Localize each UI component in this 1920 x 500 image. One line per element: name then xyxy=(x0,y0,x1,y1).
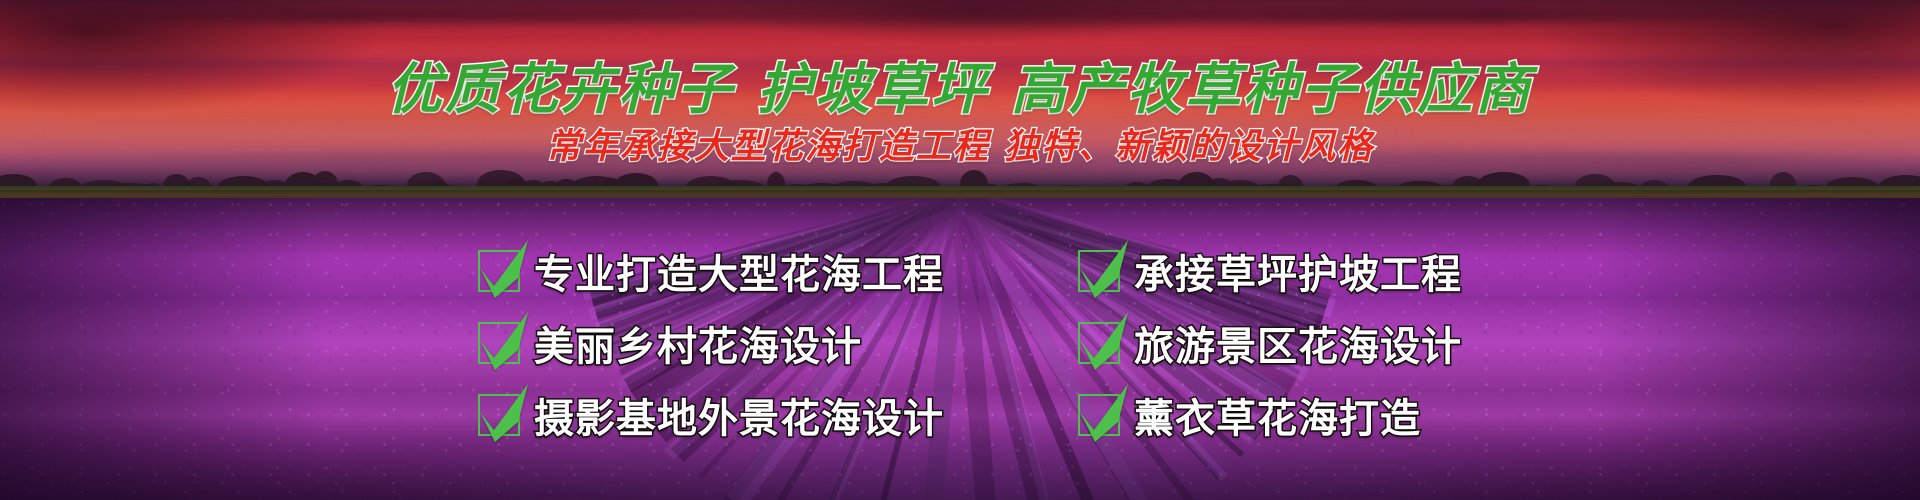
check-icon xyxy=(478,248,524,294)
feature-label: 摄影基地外景花海设计 xyxy=(534,386,944,444)
check-icon xyxy=(1078,320,1124,366)
feature-item: 旅游景区花海设计 xyxy=(1078,312,1598,374)
feature-list: 专业打造大型花海工程承接草坪护坡工程美丽乡村花海设计旅游景区花海设计摄影基地外景… xyxy=(478,240,1598,446)
check-icon xyxy=(478,320,524,366)
feature-label: 薰衣草花海打造 xyxy=(1134,386,1421,444)
feature-item: 专业打造大型花海工程 xyxy=(478,240,998,302)
feature-item: 美丽乡村花海设计 xyxy=(478,312,998,374)
feature-item: 摄影基地外景花海设计 xyxy=(478,384,998,446)
promo-banner: 优质花卉种子 护坡草坪 高产牧草种子供应商 常年承接大型花海打造工程 独特、新颖… xyxy=(0,0,1920,500)
subtitle-text: 常年承接大型花海打造工程 独特、新颖的设计风格 xyxy=(0,118,1920,169)
headline-text: 优质花卉种子 护坡草坪 高产牧草种子供应商 xyxy=(0,44,1920,124)
check-icon xyxy=(478,392,524,438)
feature-label: 旅游景区花海设计 xyxy=(1134,314,1462,372)
feature-item: 薰衣草花海打造 xyxy=(1078,384,1598,446)
feature-label: 承接草坪护坡工程 xyxy=(1134,242,1462,300)
feature-label: 专业打造大型花海工程 xyxy=(534,242,944,300)
feature-item: 承接草坪护坡工程 xyxy=(1078,240,1598,302)
check-icon xyxy=(1078,248,1124,294)
check-icon xyxy=(1078,392,1124,438)
feature-label: 美丽乡村花海设计 xyxy=(534,314,862,372)
